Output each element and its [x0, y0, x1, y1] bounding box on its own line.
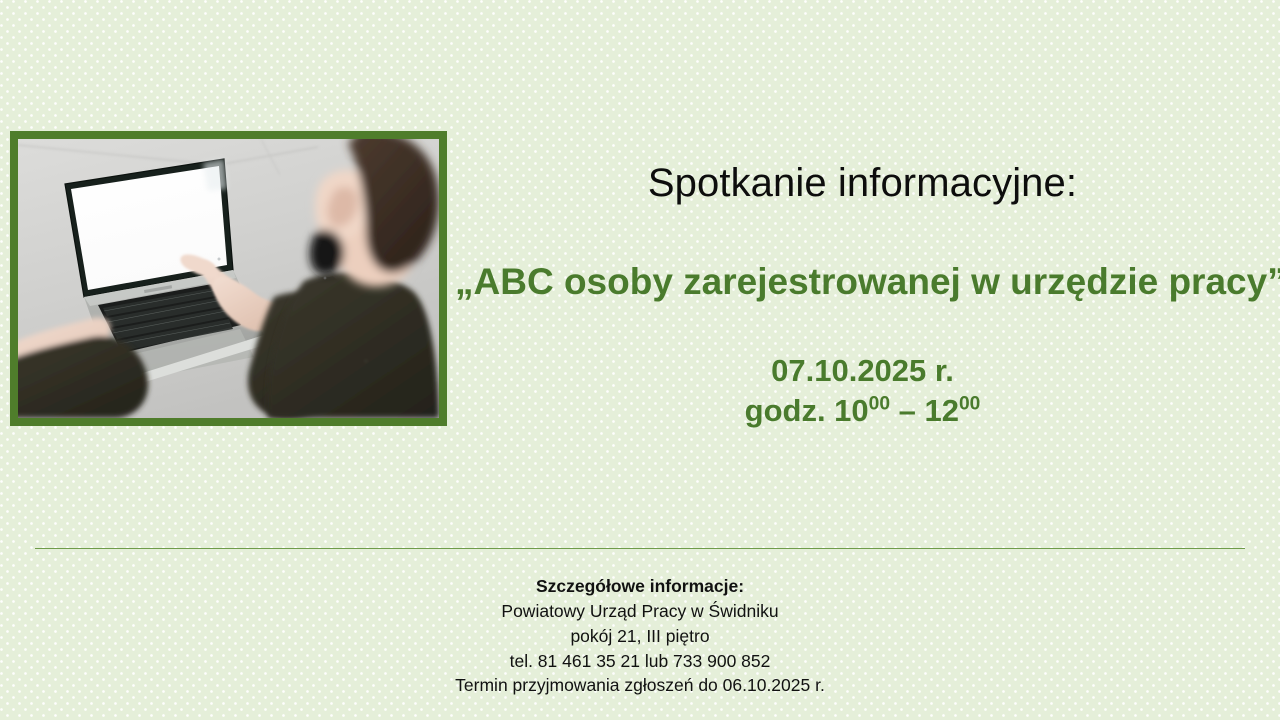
footer-line-deadline: Termin przyjmowania zgłoszeń do 06.10.20…	[0, 673, 1280, 698]
footer-line-room: pokój 21, III piętro	[0, 624, 1280, 649]
footer-line-heading: Szczegółowe informacje:	[0, 574, 1280, 599]
horizontal-divider	[35, 548, 1245, 549]
event-time-dash: – 12	[890, 393, 959, 428]
footer-line-phone: tel. 81 461 35 21 lub 733 900 852	[0, 649, 1280, 674]
event-time-start-superscript: 00	[869, 394, 890, 415]
event-date: 07.10.2025 r.	[455, 351, 1270, 391]
slide-root: Spotkanie informacyjne: „ABC osoby zarej…	[0, 0, 1280, 720]
event-time-end-superscript: 00	[959, 394, 980, 415]
photo-image	[18, 139, 439, 418]
event-title: „ABC osoby zarejestrowanej w urzędzie pr…	[455, 206, 1270, 304]
footer-line-office: Powiatowy Urząd Pracy w Świdniku	[0, 599, 1280, 624]
photo-frame	[10, 131, 447, 426]
laptop-user-photo	[18, 139, 439, 418]
event-time: godz. 1000 – 1200	[455, 391, 1270, 431]
page-title: Spotkanie informacyjne:	[455, 150, 1270, 206]
text-column: Spotkanie informacyjne: „ABC osoby zarej…	[455, 150, 1270, 431]
event-datetime: 07.10.2025 r. godz. 1000 – 1200	[455, 304, 1270, 432]
event-time-prefix: godz. 10	[745, 393, 869, 428]
footer-contact-block: Szczegółowe informacje: Powiatowy Urząd …	[0, 574, 1280, 698]
